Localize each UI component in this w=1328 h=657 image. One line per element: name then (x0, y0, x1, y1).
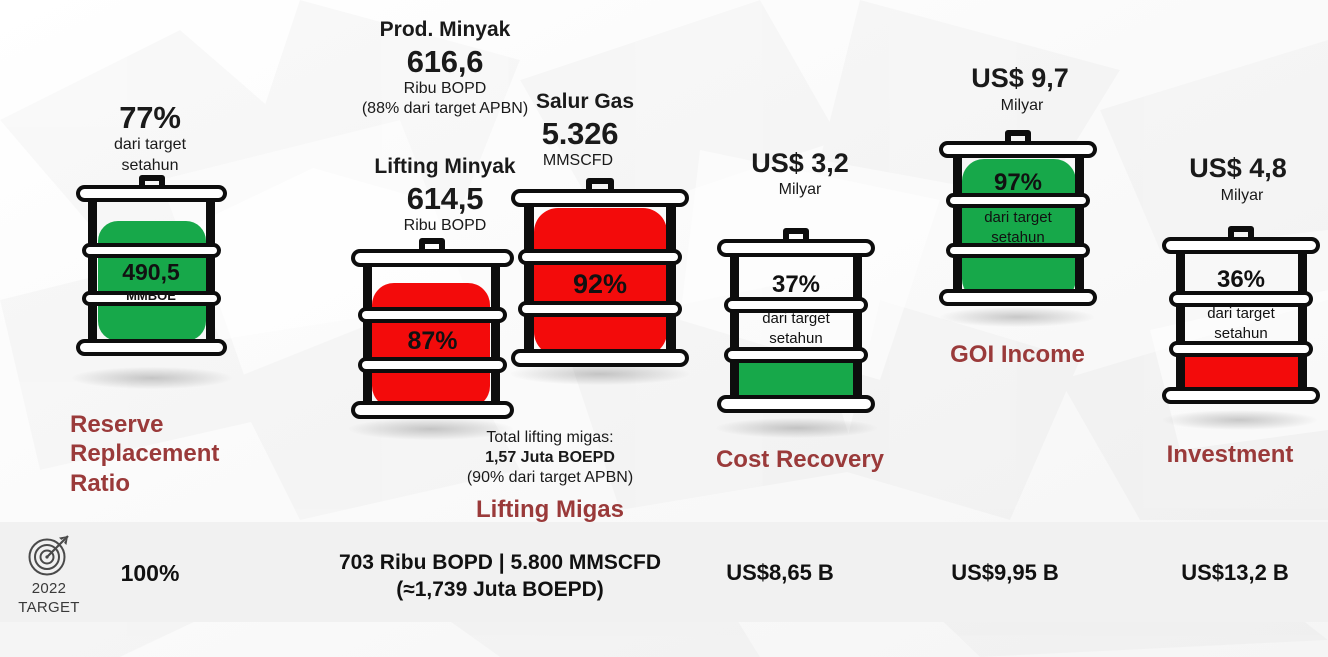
rrr-barrel: 490,5 MMBOE (68, 171, 234, 371)
lifting-minyak-barrel: 87% (345, 235, 520, 430)
rrr-label-line3: Ratio (70, 469, 290, 498)
target-cell-rrr: 100% (60, 560, 240, 587)
investment-top-value: US$ 4,8 (1148, 153, 1328, 184)
cost-recovery-barrel: 37% dari target setahun (710, 225, 882, 425)
group-lifting-migas: Prod. Minyak 616,6 Ribu BOPD (88% dari t… (300, 10, 700, 530)
lifting-migas-category-label: Lifting Migas (400, 495, 700, 524)
target-icon-label: TARGET (10, 599, 88, 618)
goi-income-top-value: US$ 9,7 (930, 63, 1110, 94)
salur-gas-value: 5.326 (490, 116, 670, 152)
lifting-total-line3: (90% dari target APBN) (400, 468, 700, 488)
rrr-top-sub-line1: dari target (60, 136, 240, 154)
group-goi-income: US$ 9,7 Milyar (910, 55, 1130, 385)
goi-income-top-unit: Milyar (932, 97, 1112, 115)
investment-barrel: 36% dari target setahun (1155, 223, 1327, 418)
rrr-label-line2: Replacement (70, 439, 290, 468)
target-cell-investment: US$13,2 B (1145, 560, 1325, 586)
target-cell-goi-income: US$9,95 B (915, 560, 1095, 586)
prod-minyak-value: 616,6 (310, 44, 580, 80)
prod-minyak-header: Prod. Minyak (310, 18, 580, 42)
lifting-total-line2: 1,57 Juta BOEPD (400, 448, 700, 468)
infographic-canvas: 77% dari target setahun (0, 0, 1328, 657)
rrr-top-percent: 77% (60, 100, 240, 136)
goi-income-category-label: GOI Income (910, 340, 1125, 369)
rrr-label-line1: Reserve (70, 410, 290, 439)
cost-recovery-category-label: Cost Recovery (685, 445, 915, 474)
investment-category-label: Investment (1125, 440, 1328, 469)
target-cell-lifting-line1: 703 Ribu BOPD | 5.800 MMSCFD (290, 549, 710, 576)
lifting-total-block: Total lifting migas: 1,57 Juta BOEPD (90… (400, 428, 700, 488)
lifting-total-line1: Total lifting migas: (400, 428, 700, 448)
target-cell-cost-recovery: US$8,65 B (690, 560, 870, 586)
salur-gas-barrel: 92% (505, 175, 695, 375)
group-cost-recovery: US$ 3,2 Milyar (690, 140, 910, 500)
group-reserve-replacement-ratio: 77% dari target setahun (60, 95, 300, 520)
target-cell-lifting-line2: (≈1,739 Juta BOEPD) (290, 576, 710, 603)
goi-income-barrel: 97% dari target setahun (932, 127, 1104, 317)
cost-recovery-top-unit: Milyar (710, 181, 890, 199)
target-cell-lifting: 703 Ribu BOPD | 5.800 MMSCFD (≈1,739 Jut… (290, 549, 710, 604)
target-bar: 2022 TARGET 100% 703 Ribu BOPD | 5.800 M… (0, 522, 1328, 622)
cost-recovery-top-value: US$ 3,2 (710, 148, 890, 179)
group-investment: US$ 4,8 Milyar (1130, 145, 1328, 485)
salur-gas-header: Salur Gas (495, 90, 675, 114)
investment-top-unit: Milyar (1152, 187, 1328, 205)
rrr-category-label: Reserve Replacement Ratio (70, 410, 290, 498)
